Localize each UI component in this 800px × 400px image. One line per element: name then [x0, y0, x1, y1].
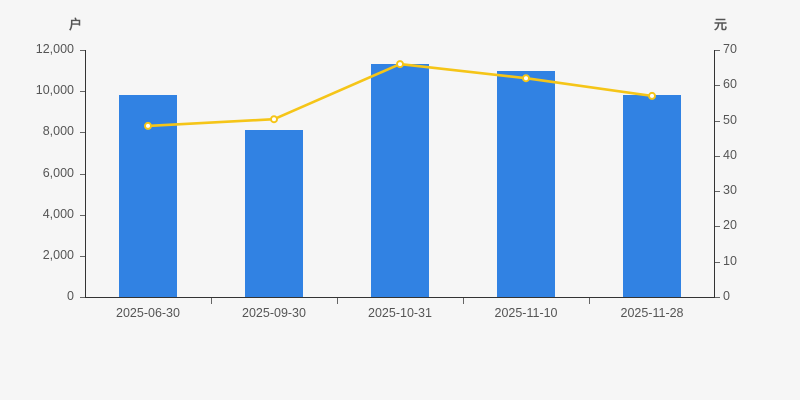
chart-canvas: 户 元 02,0004,0006,0008,00010,00012,000 01… — [0, 0, 800, 400]
left-tick-mark — [80, 256, 85, 257]
right-tick-mark — [715, 191, 720, 192]
line-point-2025-09-30[interactable] — [271, 116, 277, 122]
right-tick-mark — [715, 50, 720, 51]
left-tick-label: 10,000 — [36, 84, 74, 97]
x-tick-label: 2025-10-31 — [368, 306, 432, 320]
right-tick-mark — [715, 85, 720, 86]
left-tick-mark — [80, 174, 85, 175]
bar-2025-09-30[interactable] — [245, 130, 303, 297]
right-tick-label: 60 — [723, 78, 737, 91]
x-tick-mark — [589, 298, 590, 304]
left-tick-mark — [80, 297, 85, 298]
right-y-axis-line — [714, 50, 715, 297]
left-axis-unit-label: 户 — [69, 14, 82, 33]
x-tick-mark — [337, 298, 338, 304]
x-tick-mark — [211, 298, 212, 304]
bar-2025-06-30[interactable] — [119, 95, 177, 297]
left-tick-label: 2,000 — [43, 249, 74, 262]
left-tick-label: 8,000 — [43, 125, 74, 138]
left-tick-mark — [80, 215, 85, 216]
left-tick-label: 4,000 — [43, 208, 74, 221]
right-tick-label: 10 — [723, 255, 737, 268]
x-tick-label: 2025-09-30 — [242, 306, 306, 320]
x-axis-line — [85, 297, 715, 298]
right-tick-label: 50 — [723, 114, 737, 127]
left-tick-mark — [80, 132, 85, 133]
left-tick-mark — [80, 91, 85, 92]
bar-2025-10-31[interactable] — [371, 64, 429, 297]
bar-2025-11-10[interactable] — [497, 71, 555, 297]
right-tick-label: 30 — [723, 184, 737, 197]
left-tick-mark — [80, 50, 85, 51]
right-tick-mark — [715, 156, 720, 157]
x-tick-label: 2025-06-30 — [116, 306, 180, 320]
right-tick-mark — [715, 121, 720, 122]
bar-2025-11-28[interactable] — [623, 95, 681, 297]
left-y-axis-line — [85, 50, 86, 297]
right-tick-mark — [715, 226, 720, 227]
right-tick-label: 40 — [723, 149, 737, 162]
x-tick-label: 2025-11-10 — [494, 306, 557, 320]
right-tick-mark — [715, 262, 720, 263]
right-tick-mark — [715, 297, 720, 298]
left-tick-label: 12,000 — [36, 43, 74, 56]
x-tick-label: 2025-11-28 — [620, 306, 683, 320]
right-axis-unit-label: 元 — [714, 14, 727, 33]
right-tick-label: 0 — [723, 290, 730, 303]
right-tick-label: 20 — [723, 219, 737, 232]
left-tick-label: 6,000 — [43, 167, 74, 180]
left-tick-label: 0 — [67, 290, 74, 303]
x-tick-mark — [463, 298, 464, 304]
right-tick-label: 70 — [723, 43, 737, 56]
